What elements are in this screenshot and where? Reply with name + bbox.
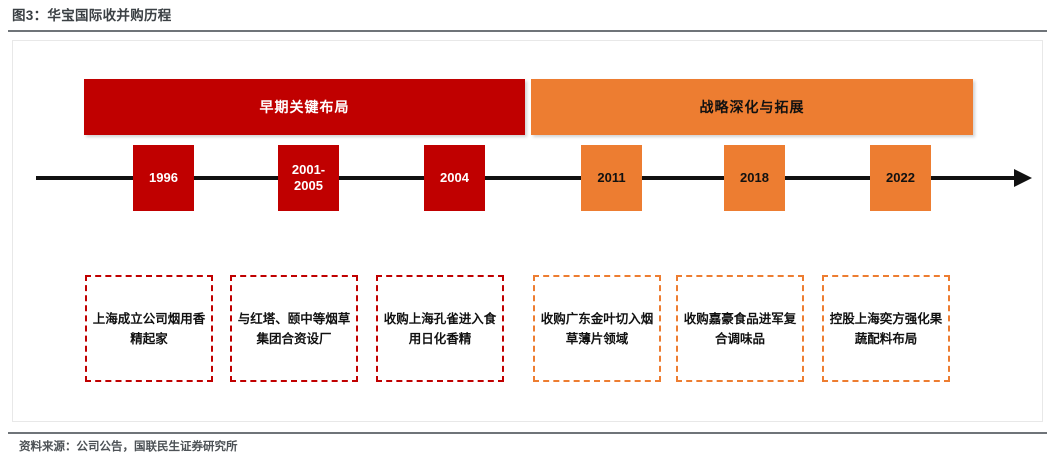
year-marker-label: 2004 [440,170,469,186]
year-marker-label: 2011 [597,170,625,186]
year-marker-2004: 2004 [424,145,485,211]
year-marker-label: 2018 [740,170,769,186]
milestone-description: 收购上海孔雀进入食用日化香精 [383,309,497,349]
page-title: 图3：华宝国际收并购历程 [12,6,1043,26]
arrow-right-icon [1014,169,1032,187]
timeline-canvas: 早期关键布局 战略深化与拓展 1996 2001-2005 2004 2011 … [12,40,1043,422]
source-note: 资料来源：公司公告，国联民生证券研究所 [19,438,238,454]
figure-title-row: 图3：华宝国际收并购历程 [12,6,1043,32]
figure-container: 图3：华宝国际收并购历程 早期关键布局 战略深化与拓展 1996 2001-20… [0,0,1055,462]
year-marker-label-line2: 2005 [294,178,323,193]
footer-divider [8,432,1047,434]
phase-banner-early: 早期关键布局 [84,79,525,135]
year-marker-label: 2022 [886,170,915,186]
year-marker-2022: 2022 [870,145,931,211]
milestone-card-2018: 收购嘉豪食品进军复合调味品 [676,275,804,382]
year-marker-2011: 2011 [581,145,642,211]
milestone-card-1996: 上海成立公司烟用香精起家 [85,275,213,382]
milestone-card-2022: 控股上海奕方强化果蔬配料布局 [822,275,950,382]
milestone-card-2004: 收购上海孔雀进入食用日化香精 [376,275,504,382]
phase-banner-deepen: 战略深化与拓展 [531,79,973,135]
phase-banner-early-label: 早期关键布局 [260,97,350,117]
milestone-card-2001-2005: 与红塔、颐中等烟草集团合资设厂 [230,275,358,382]
milestone-description: 控股上海奕方强化果蔬配料布局 [829,309,943,349]
year-marker-2018: 2018 [724,145,785,211]
milestone-description: 收购嘉豪食品进军复合调味品 [683,309,797,349]
year-marker-label-line1: 2001- [292,162,325,177]
year-marker-label: 2001-2005 [292,162,325,194]
year-marker-2001-2005: 2001-2005 [278,145,339,211]
title-divider [8,30,1047,32]
milestone-description: 与红塔、颐中等烟草集团合资设厂 [237,309,351,349]
milestone-description: 上海成立公司烟用香精起家 [92,309,206,349]
year-marker-label: 1996 [149,170,178,186]
milestone-card-2011: 收购广东金叶切入烟草薄片领域 [533,275,661,382]
year-marker-1996: 1996 [133,145,194,211]
milestone-description: 收购广东金叶切入烟草薄片领域 [540,309,654,349]
phase-banner-deepen-label: 战略深化与拓展 [700,97,805,117]
